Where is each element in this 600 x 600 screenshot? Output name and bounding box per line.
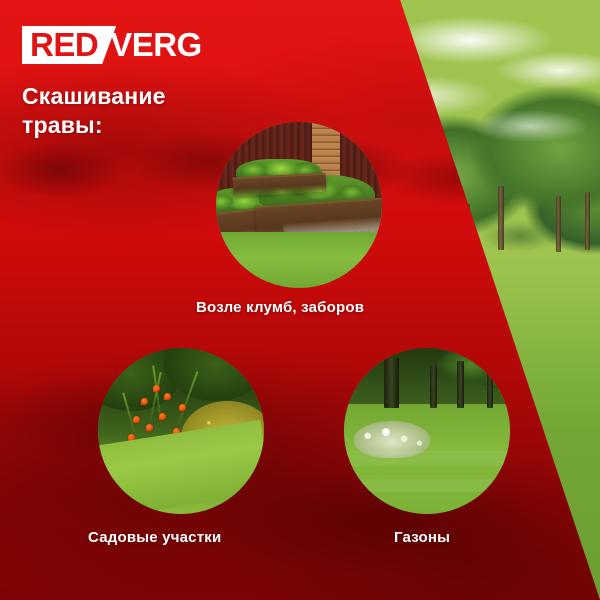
- feature-image-lawn: [344, 348, 510, 514]
- lawn-tree-trunk: [430, 365, 437, 408]
- lawn-tree-trunk: [384, 358, 399, 408]
- mow-stripe: [344, 451, 510, 466]
- brand-logo-red: RED: [22, 26, 116, 64]
- caption-plots: Садовые участки: [88, 529, 221, 546]
- orange-bloom: [146, 424, 153, 431]
- lawn-tree-line: [344, 348, 510, 404]
- orange-bloom: [141, 398, 148, 405]
- brand-logo[interactable]: RED VERG: [22, 26, 202, 64]
- plots-photo: [98, 348, 264, 514]
- page-title: Скашивание травы:: [22, 82, 272, 141]
- orange-bloom: [164, 393, 171, 400]
- orange-bloom: [133, 416, 140, 423]
- orange-bloom: [153, 385, 160, 392]
- plots-foreground-lawn: [98, 419, 264, 514]
- beds-foreground-lawn: [216, 232, 382, 288]
- beds-photo: [216, 122, 382, 288]
- lawn-photo: [344, 348, 510, 514]
- caption-beds: Возле клумб, заборов: [196, 299, 364, 316]
- promo-poster: RED VERG Скашивание травы:: [0, 0, 600, 600]
- brand-logo-verg: VERG: [110, 26, 202, 64]
- mow-stripe: [344, 479, 510, 492]
- caption-lawn: Газоны: [394, 529, 450, 546]
- lawn-tree-trunk: [487, 368, 494, 408]
- dark-shrub-right: [164, 348, 264, 401]
- feature-image-plots: [98, 348, 264, 514]
- lawn-tree-trunk: [457, 361, 464, 407]
- orange-bloom: [159, 413, 166, 420]
- feature-image-beds: [216, 122, 382, 288]
- orange-bloom: [179, 404, 186, 411]
